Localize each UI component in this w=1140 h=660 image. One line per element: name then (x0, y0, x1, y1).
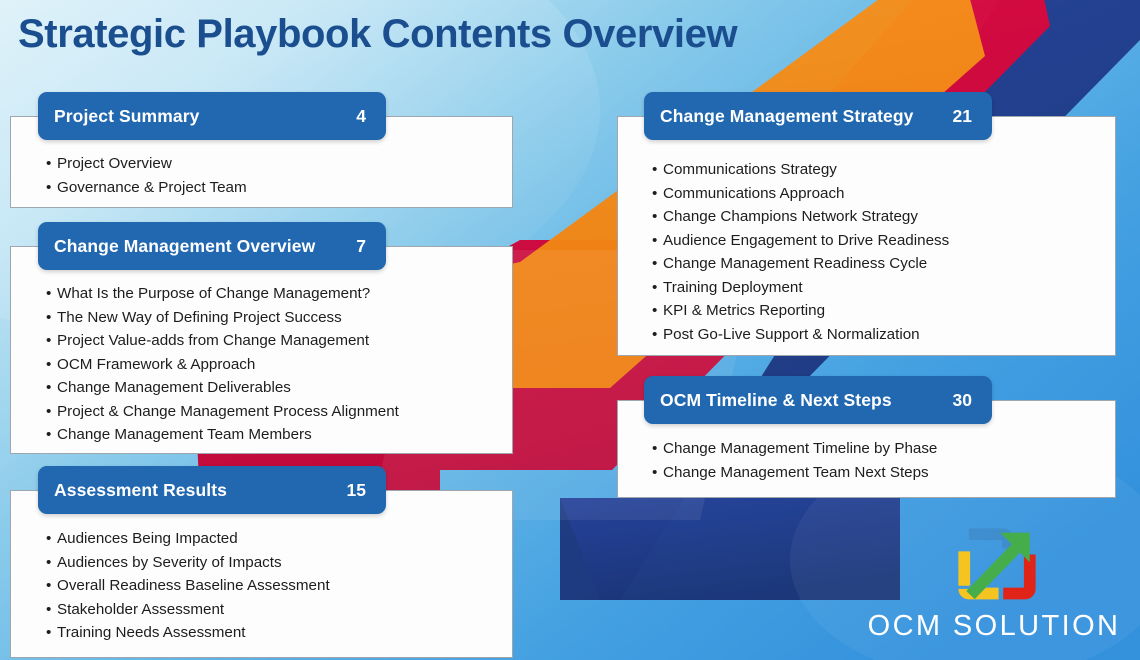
list-item: Audiences by Severity of Impacts (46, 551, 506, 575)
section-body-ocm-timeline-next-steps: Change Management Timeline by Phase Chan… (652, 437, 1112, 484)
section-body-change-management-strategy: Communications Strategy Communications A… (652, 158, 1112, 346)
section-body-assessment-results: Audiences Being Impacted Audiences by Se… (46, 527, 506, 645)
list-item: Communications Approach (652, 182, 1112, 206)
section-item-list: Change Management Timeline by Phase Chan… (652, 437, 1112, 484)
page-title: Strategic Playbook Contents Overview (18, 12, 737, 57)
list-item: OCM Framework & Approach (46, 353, 506, 377)
section-page-number: 15 (347, 480, 370, 501)
section-page-number: 4 (356, 106, 370, 127)
section-item-list: Communications Strategy Communications A… (652, 158, 1112, 346)
list-item: Project Value-adds from Change Managemen… (46, 329, 506, 353)
list-item: Project & Change Management Process Alig… (46, 400, 506, 424)
navy-slab-shape (560, 498, 900, 600)
section-title: Change Management Overview (54, 236, 315, 257)
list-item: Training Needs Assessment (46, 621, 506, 645)
section-item-list: Audiences Being Impacted Audiences by Se… (46, 527, 506, 645)
list-item: Governance & Project Team (46, 176, 506, 200)
section-page-number: 21 (953, 106, 976, 127)
list-item: Change Management Team Members (46, 423, 506, 447)
list-item: Training Deployment (652, 276, 1112, 300)
list-item: Change Management Team Next Steps (652, 461, 1112, 485)
list-item: Project Overview (46, 152, 506, 176)
section-header-change-management-strategy[interactable]: Change Management Strategy 21 (644, 92, 992, 140)
list-item: Change Champions Network Strategy (652, 205, 1112, 229)
list-item: Communications Strategy (652, 158, 1112, 182)
list-item: The New Way of Defining Project Success (46, 306, 506, 330)
section-title: Assessment Results (54, 480, 227, 501)
list-item: Change Management Deliverables (46, 376, 506, 400)
list-item: Audiences Being Impacted (46, 527, 506, 551)
section-title: Project Summary (54, 106, 199, 127)
section-header-project-summary[interactable]: Project Summary 4 (38, 92, 386, 140)
list-item: Overall Readiness Baseline Assessment (46, 574, 506, 598)
section-body-change-management-overview: What Is the Purpose of Change Management… (46, 282, 506, 447)
brand-logo-text: OCM SOLUTION (862, 610, 1126, 643)
slide-canvas: Strategic Playbook Contents Overview Pro… (0, 0, 1140, 660)
list-item: KPI & Metrics Reporting (652, 299, 1112, 323)
section-title: OCM Timeline & Next Steps (660, 390, 892, 411)
section-page-number: 30 (953, 390, 976, 411)
section-item-list: Project Overview Governance & Project Te… (46, 152, 506, 199)
section-header-change-management-overview[interactable]: Change Management Overview 7 (38, 222, 386, 270)
list-item: Audience Engagement to Drive Readiness (652, 229, 1112, 253)
section-header-assessment-results[interactable]: Assessment Results 15 (38, 466, 386, 514)
section-item-list: What Is the Purpose of Change Management… (46, 282, 506, 447)
growth-arrow-square-icon (958, 528, 1036, 606)
list-item: Change Management Readiness Cycle (652, 252, 1112, 276)
section-body-project-summary: Project Overview Governance & Project Te… (46, 152, 506, 199)
section-title: Change Management Strategy (660, 106, 914, 127)
section-page-number: 7 (356, 236, 370, 257)
list-item: Stakeholder Assessment (46, 598, 506, 622)
list-item: What Is the Purpose of Change Management… (46, 282, 506, 306)
section-header-ocm-timeline-next-steps[interactable]: OCM Timeline & Next Steps 30 (644, 376, 992, 424)
list-item: Post Go-Live Support & Normalization (652, 323, 1112, 347)
brand-logo: OCM SOLUTION (862, 528, 1126, 650)
list-item: Change Management Timeline by Phase (652, 437, 1112, 461)
